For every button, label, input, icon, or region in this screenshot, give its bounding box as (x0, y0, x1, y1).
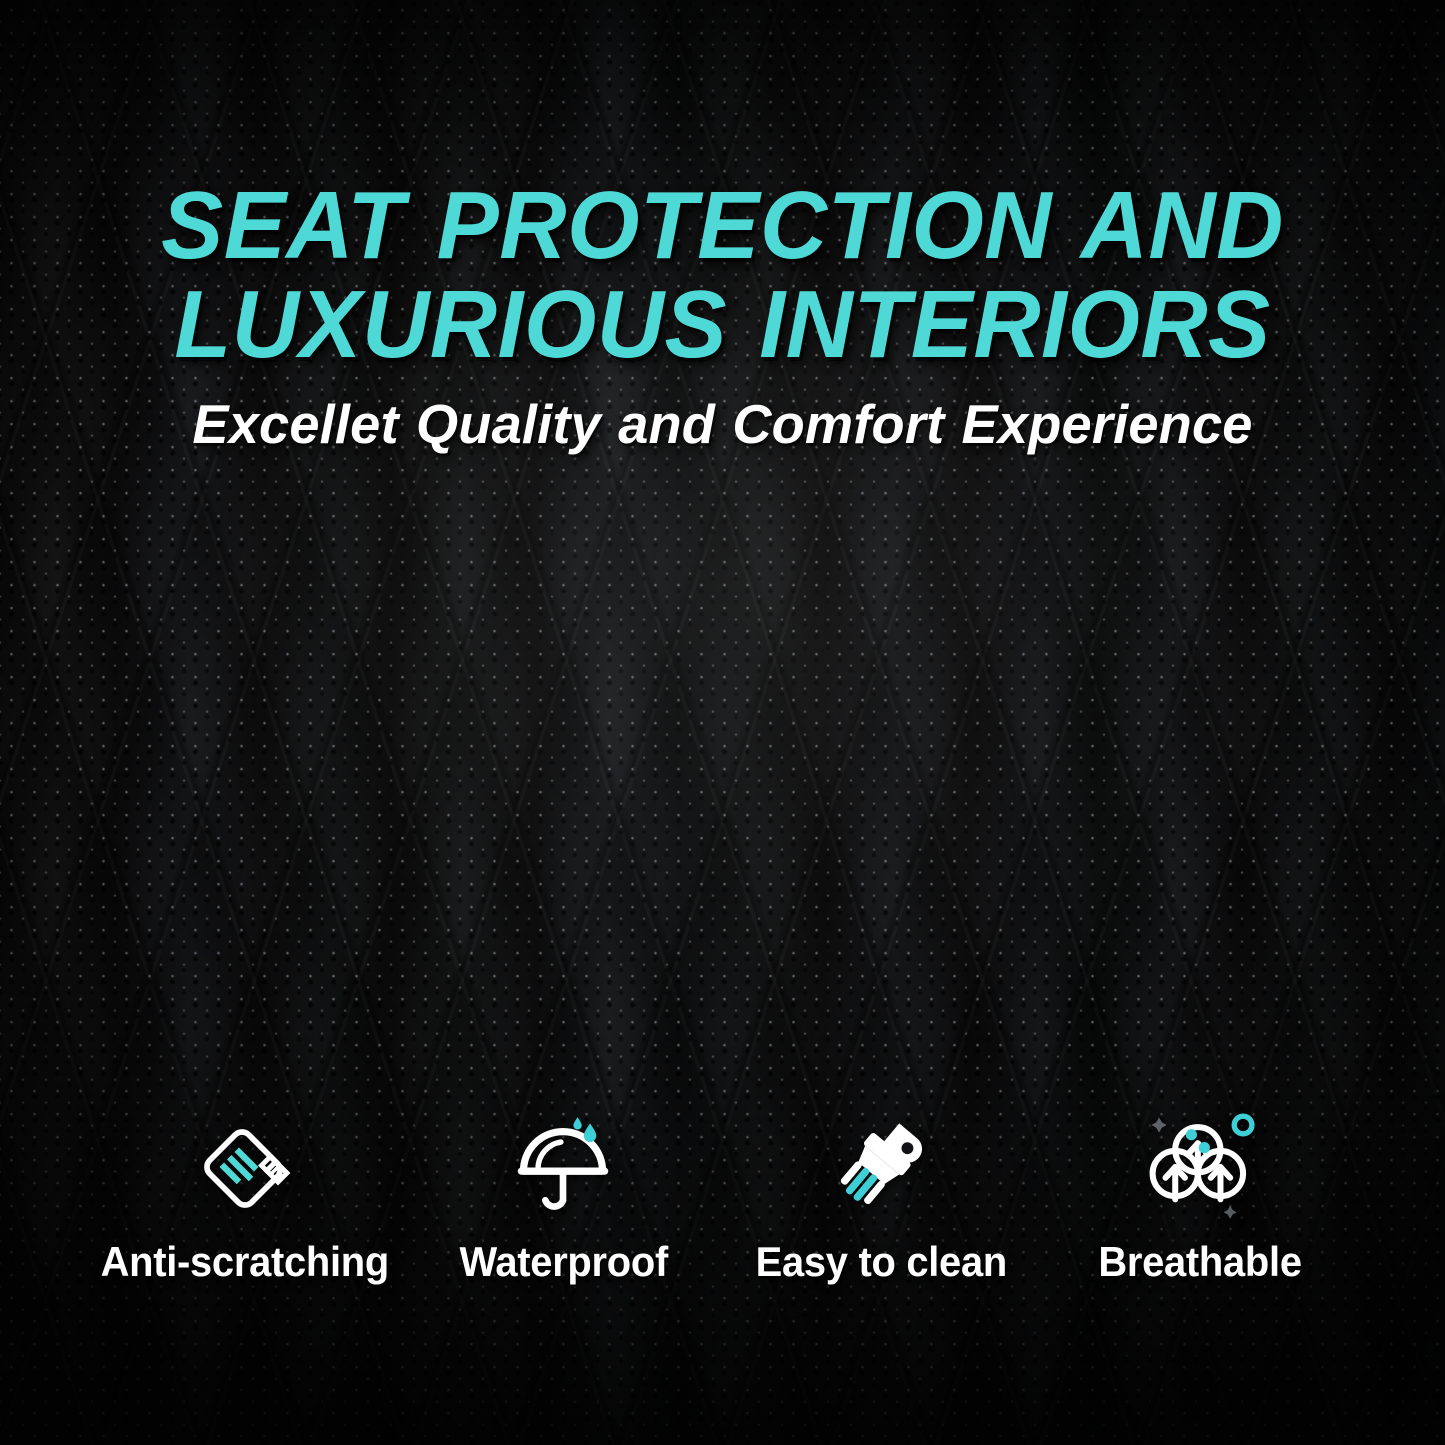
feature-list: Anti-scratching Waterproof (86, 1112, 1359, 1286)
product-banner: SEAT PROTECTION AND LUXURIOUS INTERIORS … (0, 0, 1445, 1445)
brush-icon (829, 1112, 935, 1222)
feature-item-anti-scratching: Anti-scratching (86, 1112, 404, 1286)
breathable-icon (1144, 1112, 1256, 1222)
feature-item-easy-to-clean: Easy to clean (723, 1112, 1041, 1286)
headline-block: SEAT PROTECTION AND LUXURIOUS INTERIORS (0, 178, 1445, 372)
headline-line-2: LUXURIOUS INTERIORS (22, 277, 1424, 372)
banner-content: SEAT PROTECTION AND LUXURIOUS INTERIORS … (0, 0, 1445, 1445)
feature-item-waterproof: Waterproof (404, 1112, 722, 1286)
feature-label-waterproof: Waterproof (459, 1238, 667, 1286)
headline-line-1: SEAT PROTECTION AND (22, 178, 1424, 273)
umbrella-icon (511, 1112, 615, 1222)
subtitle: Excellet Quality and Comfort Experience (11, 392, 1434, 456)
feature-label-anti-scratching: Anti-scratching (101, 1238, 389, 1286)
feature-item-breathable: Breathable (1041, 1112, 1359, 1286)
feature-label-easy-to-clean: Easy to clean (756, 1238, 1007, 1286)
feature-label-breathable: Breathable (1098, 1238, 1301, 1286)
anti-scratch-icon (192, 1112, 298, 1222)
